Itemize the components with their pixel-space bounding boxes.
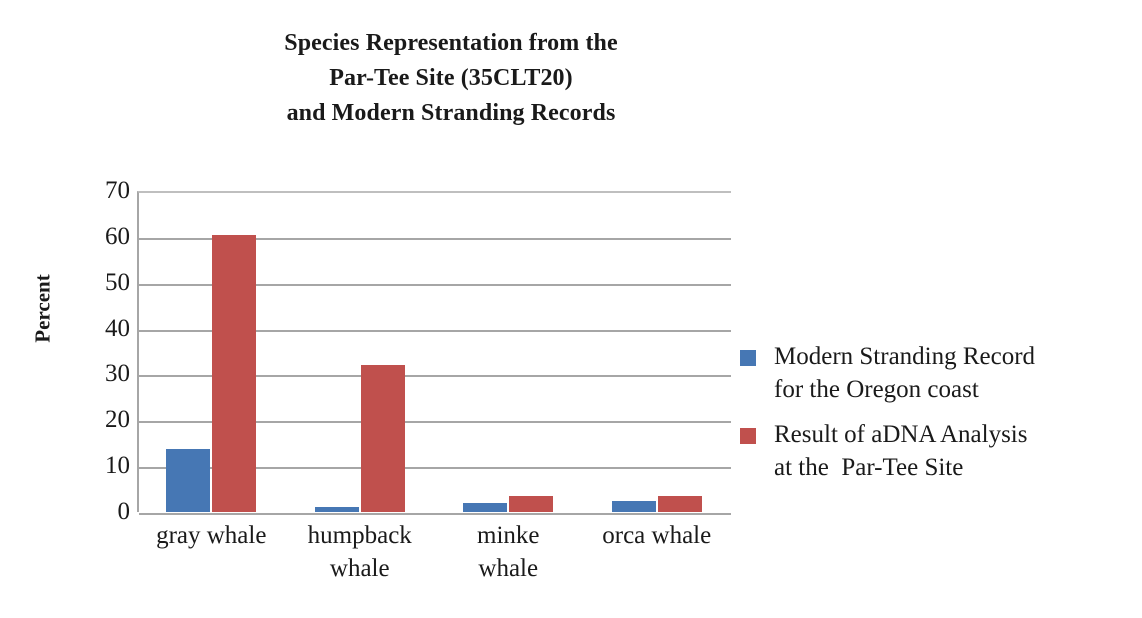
gridline-0 [139, 513, 731, 515]
legend-label-line: for the Oregon coast [774, 373, 1140, 406]
bar-orca-whale-series-0 [612, 501, 656, 512]
x-axis-category-labels: gray whalehumpbackwhaleminkewhaleorca wh… [137, 519, 731, 609]
bar-humpback-whale-series-0 [315, 507, 359, 513]
chart-title-line-2: Par-Tee Site (35CLT20) [171, 61, 731, 96]
chart-title-line-3: and Modern Stranding Records [171, 96, 731, 131]
x-label-gray-whale: gray whale [137, 519, 286, 552]
y-tick-label-70: 70 [52, 178, 130, 203]
bar-gray-whale-series-0 [166, 449, 210, 512]
y-tick-label-40: 40 [52, 316, 130, 341]
x-label-humpback-whale: humpbackwhale [286, 519, 435, 585]
x-label-line: whale [434, 552, 583, 585]
y-tick-label-60: 60 [52, 224, 130, 249]
y-tick-label-50: 50 [52, 270, 130, 295]
x-label-line: orca whale [583, 519, 732, 552]
legend-label-line: Modern Stranding Record [774, 340, 1140, 373]
bars-layer [137, 191, 731, 512]
bar-minke-whale-series-1 [509, 496, 553, 512]
chart-figure: Species Representation from the Par-Tee … [0, 0, 1142, 618]
y-tick-label-10: 10 [52, 453, 130, 478]
x-label-minke-whale: minkewhale [434, 519, 583, 585]
bar-humpback-whale-series-1 [361, 365, 405, 512]
y-tick-label-0: 0 [52, 499, 130, 524]
x-label-line: minke [434, 519, 583, 552]
legend-item-series-0[interactable]: Modern Stranding Recordfor the Oregon co… [740, 340, 1140, 406]
x-label-line: humpback [286, 519, 435, 552]
x-label-line: whale [286, 552, 435, 585]
bar-orca-whale-series-1 [658, 496, 702, 512]
legend-swatch-icon-series-1 [740, 428, 756, 444]
y-tick-label-30: 30 [52, 361, 130, 386]
bar-minke-whale-series-0 [463, 503, 507, 512]
legend-label-line: Result of aDNA Analysis [774, 418, 1140, 451]
legend-label-line: at the Par-Tee Site [774, 451, 1140, 484]
legend-item-series-1[interactable]: Result of aDNA Analysisat the Par-Tee Si… [740, 418, 1140, 484]
bar-gray-whale-series-1 [212, 235, 256, 512]
y-axis-tick-labels: 706050403020100 [52, 0, 130, 618]
x-label-line: gray whale [137, 519, 286, 552]
chart-title-line-1: Species Representation from the [171, 26, 731, 61]
legend-swatch-icon-series-0 [740, 350, 756, 366]
chart-legend: Modern Stranding Recordfor the Oregon co… [740, 340, 1140, 496]
chart-title: Species Representation from the Par-Tee … [171, 26, 731, 131]
x-label-orca-whale: orca whale [583, 519, 732, 552]
y-tick-label-20: 20 [52, 407, 130, 432]
